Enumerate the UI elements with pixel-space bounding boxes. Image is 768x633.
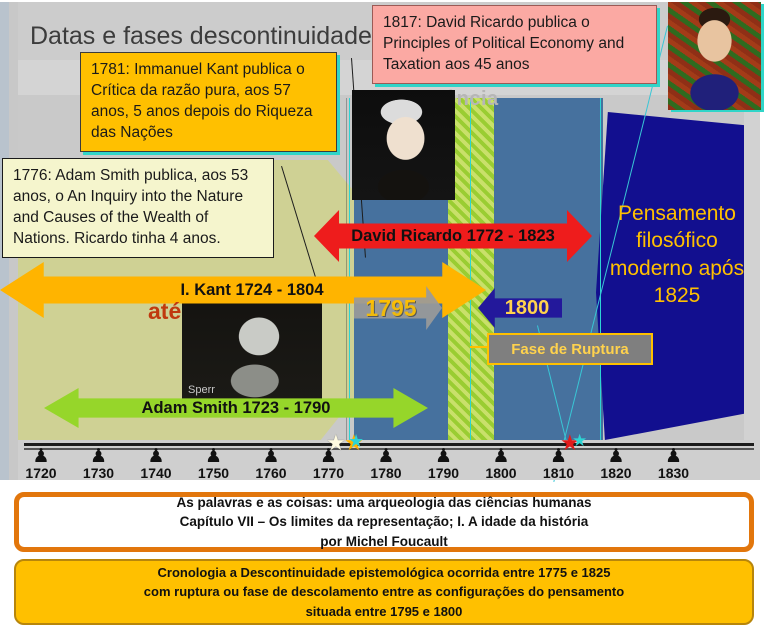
portrait-david-ricardo bbox=[668, 2, 761, 110]
timeline-tick-label: 1780 bbox=[361, 465, 411, 481]
person-silhouette-icon: ♟ bbox=[591, 450, 641, 464]
slide-canvas: (transcendência) ência Datas e fases des… bbox=[0, 0, 768, 633]
timeline-tick-label: 1770 bbox=[304, 465, 354, 481]
foucault-reference-box: As palavras e as coisas: uma arqueologia… bbox=[14, 492, 754, 552]
chronology-summary-box: Cronologia a Descontinuidade epistemológ… bbox=[14, 559, 754, 625]
portrait-caption: Sperr bbox=[188, 384, 215, 396]
person-silhouette-icon: ♟ bbox=[419, 450, 469, 464]
timeline-tick: ♟1760 bbox=[246, 450, 296, 481]
callout-kant-1781: 1781: Immanuel Kant publica o Crítica da… bbox=[80, 52, 337, 152]
timeline-tick-label: 1760 bbox=[246, 465, 296, 481]
timeline-tick: ♟1730 bbox=[74, 450, 124, 481]
label-pensamento-filosofico-moderno: Pensamento filosófico moderno após 1825 bbox=[604, 200, 750, 309]
timeline-tick-label: 1830 bbox=[649, 465, 699, 481]
timeline-tick: ♟1820 bbox=[591, 450, 641, 481]
person-silhouette-icon: ♟ bbox=[361, 450, 411, 464]
guide-line-cyan-2 bbox=[470, 98, 471, 440]
portrait-immanuel-kant bbox=[352, 90, 455, 200]
timeline-tick: ♟1750 bbox=[189, 450, 239, 481]
marker-star-1776: ★ bbox=[326, 432, 346, 454]
person-silhouette-icon: ♟ bbox=[74, 450, 124, 464]
callout-smith-1776: 1776: Adam Smith publica, aos 53 anos, o… bbox=[2, 158, 274, 258]
portrait-adam-smith: Sperr bbox=[182, 294, 322, 400]
crono-line-2: com ruptura ou fase de descolamento entr… bbox=[144, 582, 624, 602]
person-silhouette-icon: ♟ bbox=[16, 450, 66, 464]
timeline-tick: ♟1780 bbox=[361, 450, 411, 481]
timeline-tick-label: 1810 bbox=[534, 465, 584, 481]
arrow-label-1800: 1800 bbox=[505, 297, 550, 320]
timeline-tick: ♟1830 bbox=[649, 450, 699, 481]
callout-ricardo-1817: 1817: David Ricardo publica o Principles… bbox=[372, 5, 657, 84]
timeline-tick-label: 1740 bbox=[131, 465, 181, 481]
timeline-tick-label: 1720 bbox=[16, 465, 66, 481]
guide-line-cyan-1 bbox=[349, 98, 350, 440]
label-fase-de-ruptura: Fase de Ruptura bbox=[487, 333, 653, 365]
timeline-tick-label: 1790 bbox=[419, 465, 469, 481]
crono-line-1: Cronologia a Descontinuidade epistemológ… bbox=[144, 563, 624, 583]
timeline-tick-label: 1750 bbox=[189, 465, 239, 481]
arrow-label-kant: I. Kant 1724 - 1804 bbox=[180, 281, 323, 300]
timeline-tick: ♟1720 bbox=[16, 450, 66, 481]
person-silhouette-icon: ♟ bbox=[476, 450, 526, 464]
arrow-label-smith: Adam Smith 1723 - 1790 bbox=[142, 399, 331, 418]
arrow-label-ricardo: David Ricardo 1772 - 1823 bbox=[351, 227, 555, 246]
person-silhouette-icon: ♟ bbox=[246, 450, 296, 464]
person-silhouette-icon: ♟ bbox=[131, 450, 181, 464]
timeline-tick-label: 1730 bbox=[74, 465, 124, 481]
timeline-tick: ♟1790 bbox=[419, 450, 469, 481]
label-ate: até bbox=[148, 298, 181, 325]
marker-star-1817-cyan: ★ bbox=[572, 430, 587, 452]
timeline-tick-label: 1820 bbox=[591, 465, 641, 481]
guide-line-dark-1 bbox=[346, 98, 347, 440]
marker-star-1781-cyan: ★ bbox=[348, 430, 364, 452]
timeline-tick: ♟1740 bbox=[131, 450, 181, 481]
arrow-label-1795: 1795 bbox=[365, 295, 416, 322]
foucault-line-1: As palavras e as coisas: uma arqueologia… bbox=[177, 493, 592, 513]
foucault-line-3: por Michel Foucault bbox=[177, 532, 592, 552]
crono-line-3: situada entre 1795 e 1800 bbox=[144, 602, 624, 622]
person-silhouette-icon: ♟ bbox=[649, 450, 699, 464]
foucault-line-2: Capítulo VII – Os limites da representaç… bbox=[177, 512, 592, 532]
timeline-tick-label: 1800 bbox=[476, 465, 526, 481]
guide-line-cyan-3 bbox=[600, 98, 601, 440]
timeline-tick: ♟1800 bbox=[476, 450, 526, 481]
person-silhouette-icon: ♟ bbox=[189, 450, 239, 464]
page-title: Datas e fases descontinuidade no bbox=[30, 22, 407, 51]
